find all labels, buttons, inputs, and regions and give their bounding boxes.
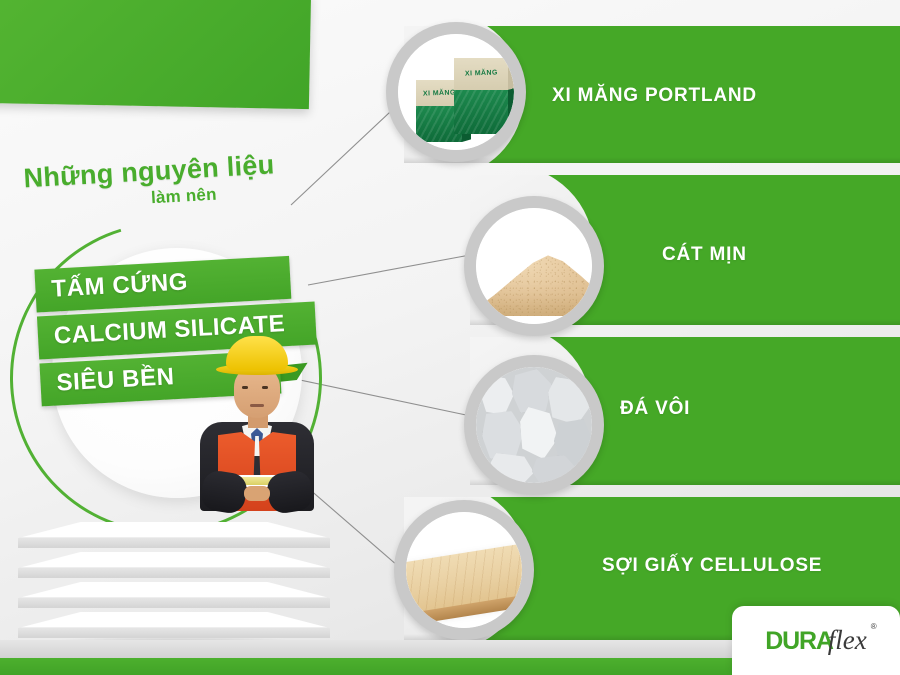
panel-sheet	[18, 552, 330, 578]
ingredient-icon-cellulose[interactable]	[394, 500, 534, 640]
ingredient-label-sand: CÁT MỊN	[662, 244, 747, 266]
registered-trademark-icon: ®	[871, 622, 877, 631]
ingredient-icon-cement[interactable]: XI MĂNG XI MĂNG	[386, 22, 526, 162]
ingredient-label-limestone: ĐÁ VÔI	[620, 398, 690, 420]
rock	[480, 375, 514, 415]
wood-board-edge	[406, 593, 522, 627]
rock	[512, 369, 552, 413]
page-title: Những nguyên liệu làm nên	[23, 148, 325, 216]
wood-board	[406, 541, 522, 616]
limestone-rocks-icon	[476, 367, 592, 483]
engineer-eye	[242, 386, 248, 389]
engineer-eye	[262, 386, 268, 389]
wood-board-icon	[406, 512, 522, 628]
cement-bag-side	[508, 55, 514, 134]
logo-text-dura: DURA	[765, 627, 832, 656]
ingredient-icon-limestone[interactable]	[464, 355, 604, 495]
rock	[548, 377, 592, 425]
panel-sheet	[18, 522, 330, 548]
cement-bag-large: XI MĂNG	[454, 58, 508, 134]
rock	[490, 453, 534, 483]
ingredient-icon-sand[interactable]	[464, 196, 604, 336]
cement-bag-label: XI MĂNG	[465, 70, 498, 78]
duraflex-logo: DURA flex ®	[765, 625, 866, 656]
engineer-mouth	[250, 404, 264, 407]
header-green-block	[0, 0, 311, 109]
cement-bag-bottom	[454, 90, 508, 134]
panel-sheet	[18, 582, 330, 608]
sand-shape	[476, 242, 592, 316]
cement-bag-label: XI MĂNG	[423, 89, 456, 97]
ingredient-label-cement: XI MĂNG PORTLAND	[552, 85, 757, 107]
sand-pile-icon	[476, 208, 592, 324]
engineer-figure	[196, 336, 318, 511]
cement-bag-top: XI MĂNG	[454, 58, 508, 90]
engineer-hand	[244, 486, 270, 501]
panel-sheet	[18, 612, 330, 638]
infographic-canvas: XI MĂNG XI MĂNG	[0, 0, 900, 675]
ingredient-label-cellulose: SỢI GIẤY CELLULOSE	[602, 555, 822, 577]
brand-logo-card[interactable]: DURA flex ®	[732, 606, 900, 675]
sand-grain-texture	[476, 242, 592, 316]
engineer-helmet	[226, 336, 288, 370]
rock	[482, 411, 524, 459]
logo-text-flex: flex	[828, 625, 867, 656]
panel-stack	[18, 516, 330, 646]
cement-bags-icon: XI MĂNG XI MĂNG	[398, 34, 514, 150]
